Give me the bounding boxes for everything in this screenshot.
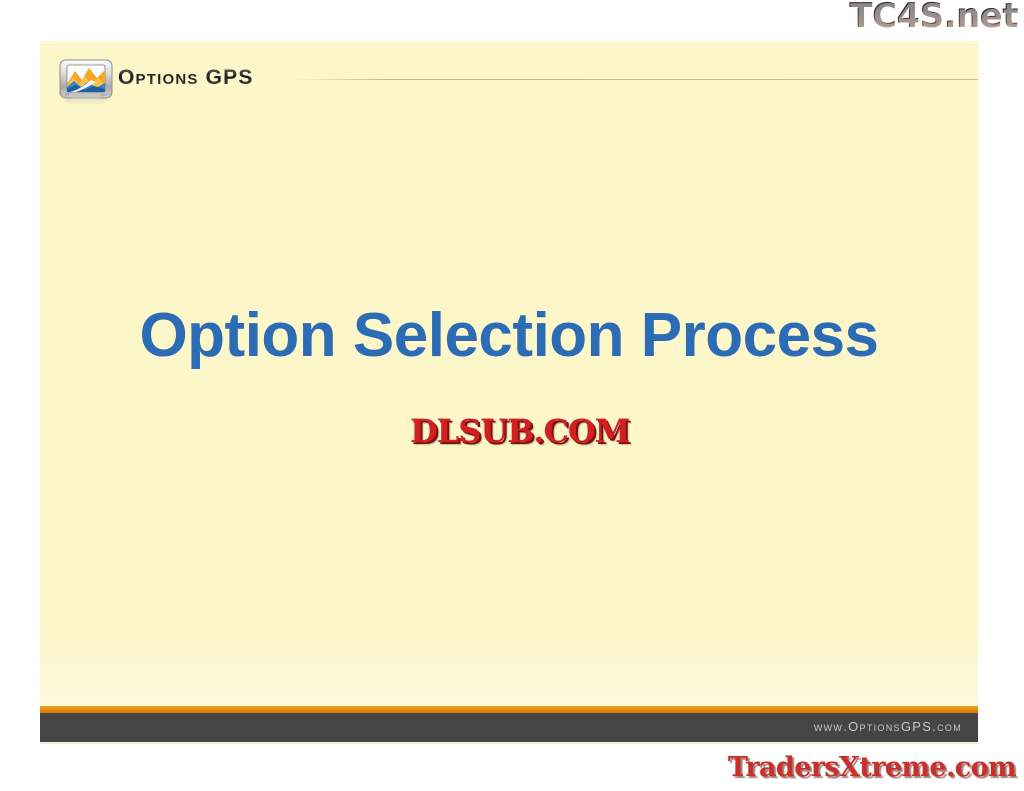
watermark-dlsub: DLSUB.COM (410, 412, 629, 450)
gps-device-chart-icon (58, 58, 114, 106)
page-title: Option Selection Process (40, 303, 978, 368)
footer-accent-bar (40, 706, 978, 713)
footer-website-label: www.OptionsGPS.com (814, 719, 962, 734)
watermark-tc4s: TC4S.net (849, 0, 1018, 36)
presentation-slide: Options GPS Option Selection Process DLS… (40, 41, 978, 744)
title-block: Option Selection Process (40, 303, 978, 368)
header-divider (293, 79, 978, 80)
slide-footer: www.OptionsGPS.com (40, 713, 978, 742)
watermark-tradersxtreme: TradersXtreme.com (728, 752, 1016, 783)
brand-label: Options GPS (118, 66, 254, 90)
slide-header: Options GPS (40, 41, 978, 111)
